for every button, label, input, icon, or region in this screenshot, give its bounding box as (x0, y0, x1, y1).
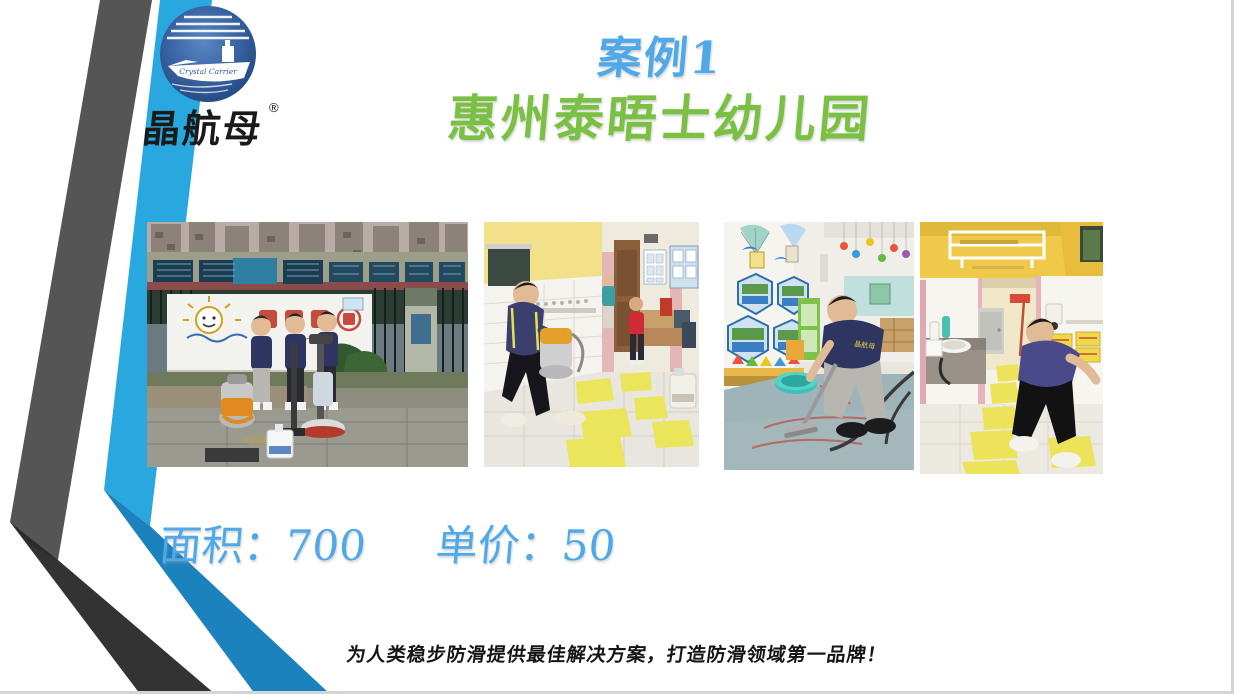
chevron-gray-upper (10, 0, 152, 560)
photo-worker-vacuuming-corridor (484, 222, 699, 467)
project-stats: 面积：700单价：50 (157, 512, 802, 572)
case-number-title: 案例1 (368, 34, 952, 85)
worker-1 (251, 316, 272, 411)
footer-slogan: 为人类稳步防滑提供最佳解决方案，打造防滑领域第一品牌！ (0, 640, 1234, 667)
logo-mark-text: Crystal Carrier (179, 67, 237, 76)
unit-price-value: 50 (560, 521, 618, 570)
slide-canvas: Crystal Carrier 晶航母 ® 案例1 惠州泰晤士幼儿园 (0, 0, 1234, 694)
registered-trademark-mark: ® (269, 100, 279, 115)
area-label: 面积： (158, 521, 288, 570)
photo-worker-in-washroom (920, 222, 1103, 474)
project-name-title: 惠州泰晤士幼儿园 (367, 89, 952, 149)
brand-logo: Crystal Carrier 晶航母 ® (143, 4, 293, 159)
photo-team-at-kindergarten-gate: arten (147, 222, 468, 467)
unit-price-label: 单价： (434, 521, 564, 570)
slide-title-block: 案例1 惠州泰晤士幼儿园 (370, 34, 950, 149)
photo-worker-squeegee-classroom: 晶航母 (724, 222, 914, 470)
chevron-gray-joint (10, 522, 58, 560)
area-value: 700 (284, 521, 368, 570)
crystal-carrier-ship-logo: Crystal Carrier (158, 4, 258, 104)
photo-gallery: arten (147, 222, 1107, 472)
